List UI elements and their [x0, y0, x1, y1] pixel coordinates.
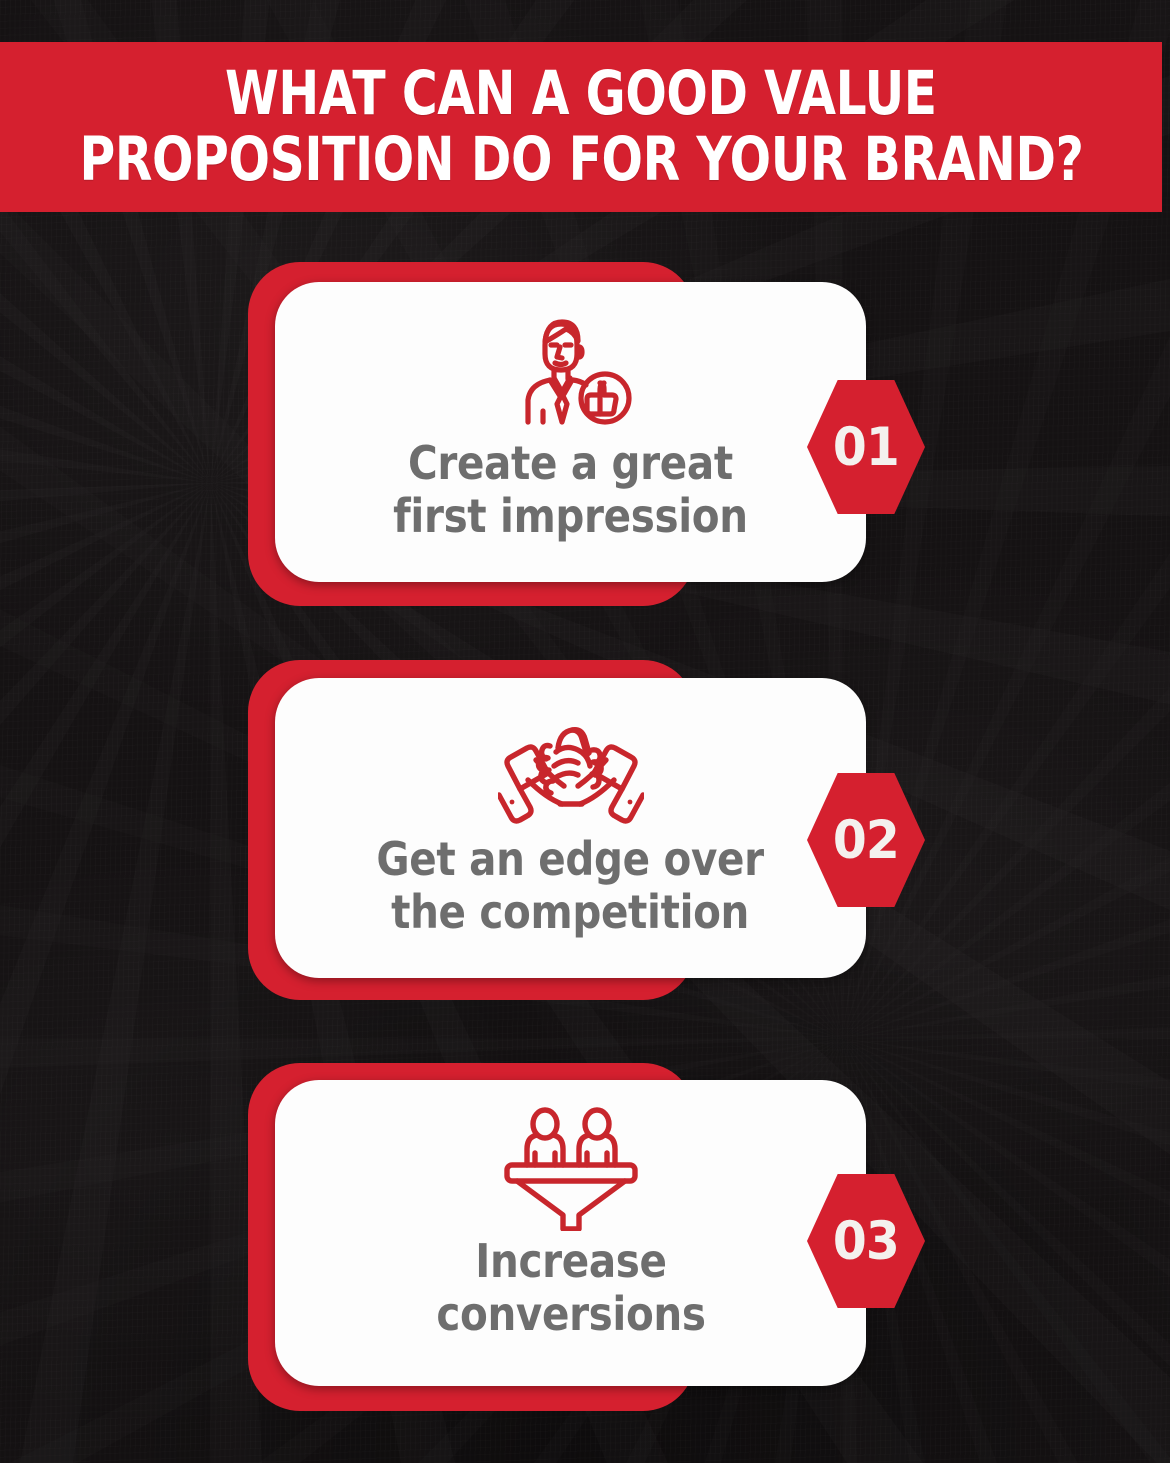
page-title-line-2: Proposition do for your brand?: [79, 127, 1083, 193]
card-1-number: 01: [833, 421, 899, 474]
card-2-number: 02: [833, 814, 899, 867]
businessperson-thumbs-up-icon: [496, 308, 646, 433]
conversion-funnel-icon: [496, 1106, 646, 1231]
card-1-label: Create a great first impression: [393, 437, 748, 543]
card-3-surface[interactable]: Increase conversions: [275, 1080, 866, 1386]
card-2-surface[interactable]: Get an edge over the competition: [275, 678, 866, 978]
page-title-line-1: What can a good value: [225, 61, 937, 127]
header-banner: What can a good value Proposition do for…: [0, 42, 1162, 212]
card-3-label: Increase conversions: [436, 1235, 705, 1341]
clasped-hands-icon: [496, 704, 646, 829]
card-2-label: Get an edge over the competition: [377, 833, 764, 939]
card-3-number: 03: [833, 1215, 899, 1268]
card-1-surface[interactable]: Create a great first impression: [275, 282, 866, 582]
